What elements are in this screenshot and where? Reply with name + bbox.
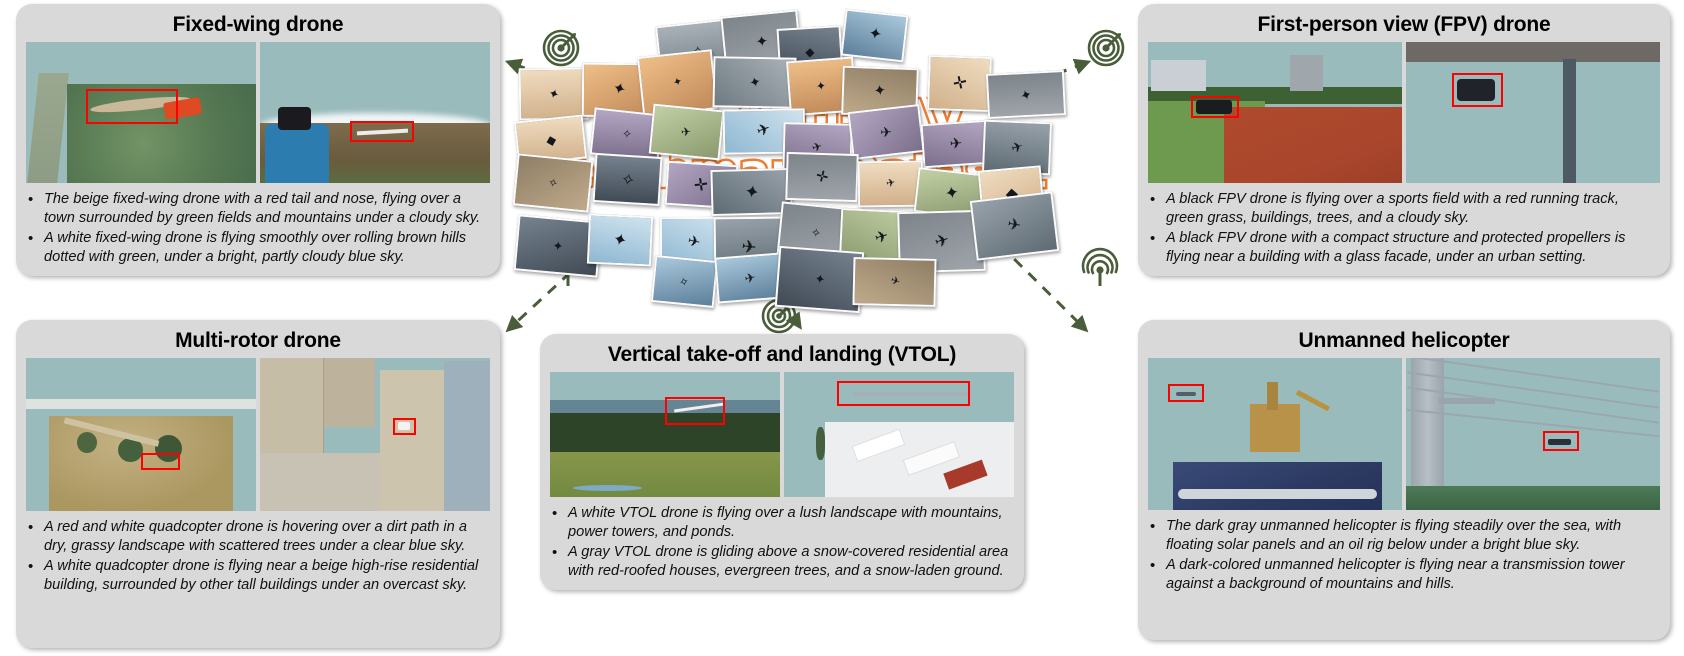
collage-thumbnail: ✈ [648, 104, 723, 160]
collage-uav-glyph: ✧ [621, 128, 632, 141]
caption-list: • The beige fixed-wing drone with a red … [26, 190, 490, 268]
collage-uav-glyph: ✧ [618, 169, 635, 189]
caption-item: • A black FPV drone is flying over a spo… [1150, 190, 1660, 228]
bounding-box [350, 121, 414, 142]
collage-uav-glyph: ✈ [880, 125, 892, 139]
collage-uav-glyph: ✦ [754, 33, 768, 49]
collage-uav-glyph: ◆ [805, 46, 815, 58]
caption-text: A black FPV drone with a compact structu… [1166, 229, 1660, 267]
uav-image-collage: ✧✦◆✦✦✦✦✦✦✦✛✦◆✧✈✈✈✈✈✈✧✧✛✦✛✈✦◆✦✦✈✈✧✈✈✈✧✈✦✈ [524, 18, 1052, 308]
bounding-box [1543, 431, 1579, 451]
antenna-signal-icon [1080, 246, 1120, 293]
caption-item: • The dark gray unmanned helicopter is f… [1150, 517, 1660, 555]
caption-text: A gray VTOL drone is gliding above a sno… [568, 543, 1014, 581]
collage-uav-glyph: ✈ [1006, 216, 1022, 234]
panel-title: Unmanned helicopter [1148, 326, 1660, 358]
bullet-icon: • [28, 229, 44, 249]
bullet-icon: • [552, 504, 568, 524]
panel-unmanned-helicopter: Unmanned helicopter [1138, 320, 1670, 640]
panel-title: Vertical take-off and landing (VTOL) [550, 340, 1014, 372]
bullet-icon: • [28, 557, 44, 577]
panel-title: First-person view (FPV) drone [1148, 10, 1660, 42]
collage-uav-glyph: ✈ [740, 237, 757, 257]
bounding-box [86, 89, 178, 124]
collage-thumbnail: ✛ [785, 152, 859, 202]
collage-thumbnail: ✦ [840, 9, 908, 62]
collage-thumbnail: ✦ [712, 56, 796, 108]
collage-uav-glyph: ✦ [866, 26, 882, 44]
bounding-box [665, 397, 725, 424]
caption-text: A dark-colored unmanned helicopter is fl… [1166, 556, 1660, 594]
panel-image-row [26, 358, 490, 511]
bounding-box [837, 381, 970, 406]
collage-thumbnail: ✈ [853, 257, 937, 307]
caption-item: • A red and white quadcopter drone is ho… [28, 518, 490, 556]
collage-thumbnail: ✦ [710, 167, 792, 215]
collage-uav-glyph: ✈ [743, 271, 756, 286]
radar-target-icon [1086, 28, 1126, 73]
collage-thumbnail: ✈ [970, 191, 1059, 260]
caption-text: A white fixed-wing drone is flying smoot… [44, 229, 490, 267]
caption-text: The beige fixed-wing drone with a red ta… [44, 190, 490, 228]
panel-title: Fixed-wing drone [26, 10, 490, 42]
collage-thumbnail: ✧ [651, 255, 718, 308]
caption-list: • A red and white quadcopter drone is ho… [26, 518, 490, 596]
caption-list: • The dark gray unmanned helicopter is f… [1148, 517, 1660, 595]
panel-fixed-wing: Fixed-wing drone • [16, 4, 500, 276]
bounding-box [1191, 96, 1239, 119]
bounding-box [393, 418, 416, 435]
bullet-icon: • [28, 190, 44, 210]
sample-image-fixed-wing-1 [26, 42, 256, 183]
sample-image-fpv-2 [1406, 42, 1660, 183]
caption-text: A red and white quadcopter drone is hove… [44, 518, 490, 556]
collage-uav-glyph: ✦ [943, 184, 960, 203]
caption-item: • A white fixed-wing drone is flying smo… [28, 229, 490, 267]
collage-thumbnail: ✈ [858, 161, 924, 208]
collage-thumbnail: ✦ [986, 70, 1066, 119]
caption-item: • A gray VTOL drone is gliding above a s… [552, 543, 1014, 581]
sample-image-vtol-1 [550, 372, 780, 497]
bullet-icon: • [1150, 556, 1166, 576]
sample-image-vtol-2 [784, 372, 1014, 497]
panel-image-row [550, 372, 1014, 497]
collage-thumbnail: ✧ [592, 152, 662, 205]
collage-thumbnail: ✈ [920, 120, 991, 169]
caption-item: • The beige fixed-wing drone with a red … [28, 190, 490, 228]
caption-text: A white VTOL drone is flying over a lush… [568, 504, 1014, 542]
collage-thumbnail: ✛ [927, 54, 992, 111]
sample-image-helicopter-2 [1406, 358, 1660, 510]
collage-uav-glyph: ✦ [872, 83, 887, 100]
caption-list: • A black FPV drone is flying over a spo… [1148, 190, 1660, 268]
radar-target-icon [541, 28, 581, 73]
collage-thumbnail: ✦ [587, 213, 653, 266]
figure-canvas: ✧✦◆✦✦✦✦✦✦✦✛✦◆✧✈✈✈✈✈✈✧✧✛✦✛✈✦◆✦✦✈✈✧✈✈✈✧✈✦✈… [0, 0, 1684, 656]
caption-item: • A white VTOL drone is flying over a lu… [552, 504, 1014, 542]
panel-image-row [26, 42, 490, 183]
collage-uav-glyph: ✦ [813, 272, 826, 287]
panel-fpv: First-person view (FPV) drone [1138, 4, 1670, 276]
sample-image-multi-rotor-2 [260, 358, 490, 511]
collage-uav-glyph: ✛ [693, 176, 709, 195]
collage-thumbnail: ✈ [847, 104, 924, 160]
collage-thumbnail: ✦ [775, 246, 864, 313]
collage-uav-glyph: ✦ [815, 80, 827, 93]
caption-text: The dark gray unmanned helicopter is fly… [1166, 517, 1660, 555]
collage-uav-glyph: ✈ [949, 136, 963, 152]
collage-uav-glyph: ✈ [680, 126, 691, 139]
collage-uav-glyph: ✈ [885, 178, 896, 191]
caption-item: • A black FPV drone with a compact struc… [1150, 229, 1660, 267]
panel-image-row [1148, 358, 1660, 510]
caption-text: A black FPV drone is flying over a sport… [1166, 190, 1660, 228]
caption-item: • A dark-colored unmanned helicopter is … [1150, 556, 1660, 594]
bounding-box [1168, 384, 1204, 402]
collage-uav-glyph: ✦ [552, 238, 564, 252]
collage-thumbnail: ✦ [519, 68, 590, 121]
caption-list: • A white VTOL drone is flying over a lu… [550, 504, 1014, 582]
panel-vtol: Vertical take-off and landing (VTOL) [540, 334, 1024, 590]
panel-image-row [1148, 42, 1660, 183]
bounding-box [1452, 73, 1503, 107]
panel-multi-rotor: Multi-rotor drone [16, 320, 500, 648]
panel-title: Multi-rotor drone [26, 326, 490, 358]
sample-image-multi-rotor-1 [26, 358, 256, 511]
sample-image-fpv-1 [1148, 42, 1402, 183]
collage-uav-glyph: ✦ [742, 181, 760, 201]
sample-image-helicopter-1 [1148, 358, 1402, 510]
bounding-box [141, 453, 180, 470]
bullet-icon: • [1150, 229, 1166, 249]
collage-thumbnail: ✧ [513, 153, 594, 212]
collage-uav-glyph: ✧ [810, 226, 822, 239]
bullet-icon: • [552, 543, 568, 563]
caption-text: A white quadcopter drone is flying near … [44, 557, 490, 595]
bullet-icon: • [28, 518, 44, 538]
sample-image-fixed-wing-2 [260, 42, 490, 183]
bullet-icon: • [1150, 190, 1166, 210]
caption-item: • A white quadcopter drone is flying nea… [28, 557, 490, 595]
bullet-icon: • [1150, 517, 1166, 537]
